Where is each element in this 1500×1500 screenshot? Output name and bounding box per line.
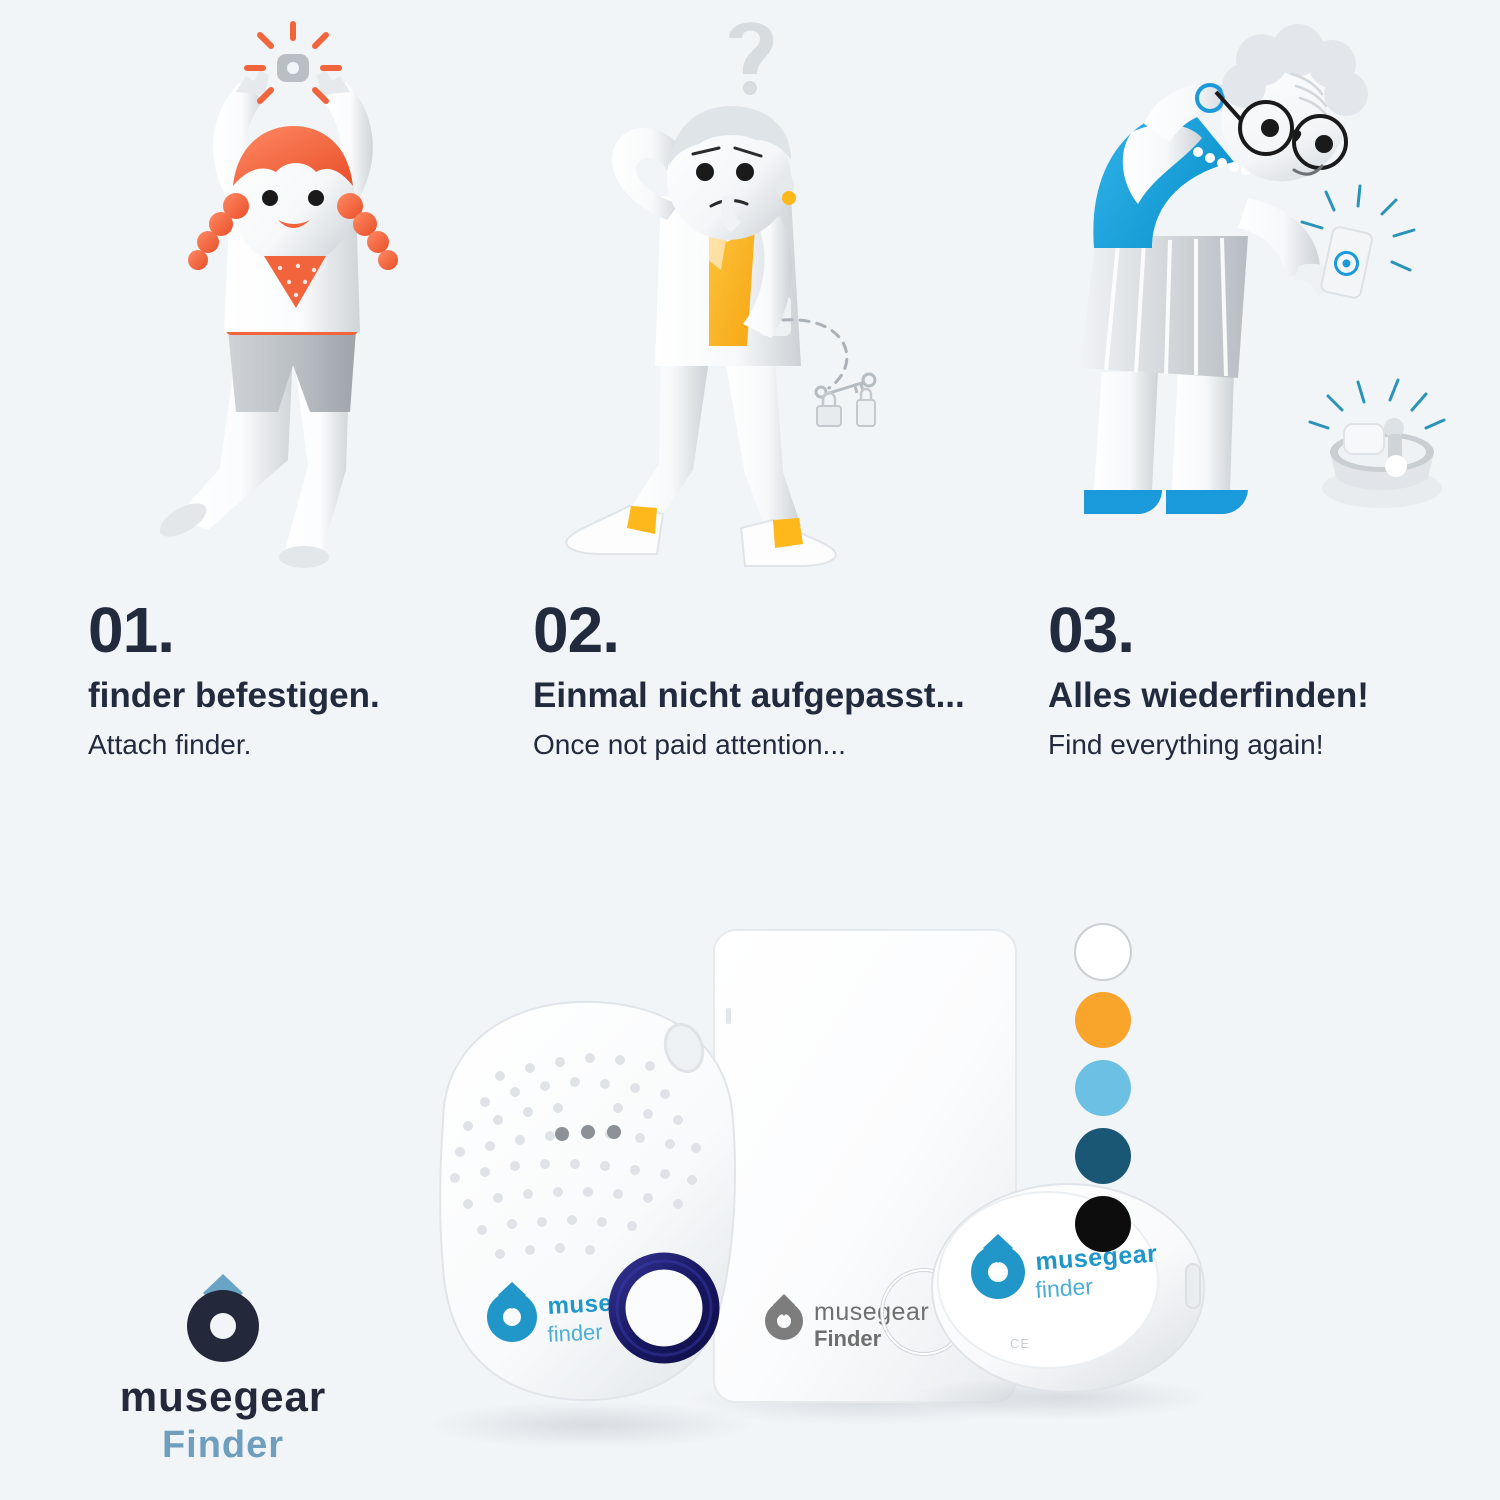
illustration-woman-finding-keys <box>1048 20 1448 580</box>
step-03-caption: 03. Alles wiederfinden! Find everything … <box>1048 598 1448 762</box>
svg-text:finder: finder <box>547 1319 603 1347</box>
step-02-subtitle: Once not paid attention... <box>533 728 1003 762</box>
step-02-caption: 02. Einmal nicht aufgepasst... Once not … <box>533 598 1003 762</box>
step-01-number: 01. <box>88 598 508 662</box>
square-finder-button <box>617 1261 711 1355</box>
step-01-caption: 01. finder befestigen. Attach finder. <box>88 598 508 762</box>
step-03-subtitle: Find everything again! <box>1048 728 1448 762</box>
step-01: 01. finder befestigen. Attach finder. <box>88 0 508 790</box>
svg-text:finder: finder <box>1035 1273 1095 1303</box>
logo-ring-icon <box>187 1290 259 1362</box>
brand-logo: musegear Finder <box>88 1272 358 1464</box>
step-03: 03. Alles wiederfinden! Find everything … <box>1048 0 1448 790</box>
svg-text:musegear: musegear <box>814 1298 929 1326</box>
step-02: 02. Einmal nicht aufgepasst... Once not … <box>533 0 1003 790</box>
square-finder-product: musegear finder <box>425 1002 755 1500</box>
musegear-logo-mark <box>88 1272 358 1364</box>
illustration-man-dropping-keys <box>533 20 1003 580</box>
step-02-title: Einmal nicht aufgepasst... <box>533 676 1003 716</box>
step-01-title: finder befestigen. <box>88 676 508 716</box>
step-03-title: Alles wiederfinden! <box>1048 676 1448 716</box>
illustration-girl-attaching-finder <box>88 20 508 580</box>
swatch-black <box>1075 1196 1131 1252</box>
swatch-white <box>1075 924 1131 980</box>
svg-text:Finder: Finder <box>814 1326 882 1351</box>
steps-row: 01. finder befestigen. Attach finder. <box>0 0 1500 800</box>
brand-sub: Finder <box>88 1426 358 1464</box>
swatch-darkteal <box>1075 1128 1131 1184</box>
ce-mark: CE <box>1010 1336 1030 1351</box>
step-02-number: 02. <box>533 598 1003 662</box>
swatch-orange <box>1075 992 1131 1048</box>
swatch-lightblue <box>1075 1060 1131 1116</box>
step-01-subtitle: Attach finder. <box>88 728 508 762</box>
brand-name: musegear <box>88 1376 358 1418</box>
step-03-number: 03. <box>1048 598 1448 662</box>
